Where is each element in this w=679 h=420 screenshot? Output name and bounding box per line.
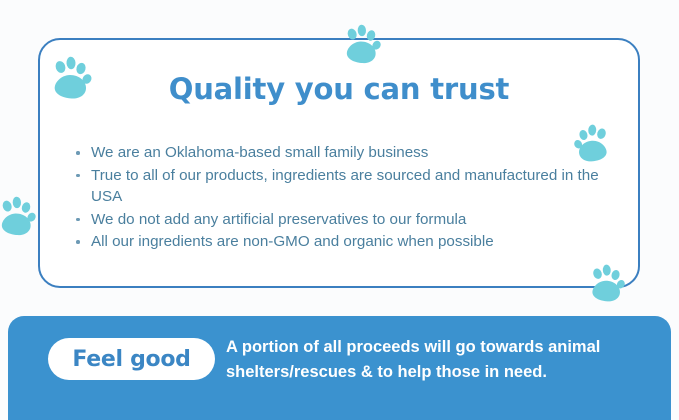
list-item-label: We are an Oklahoma-based small family bu… [91, 144, 428, 161]
banner-message: A portion of all proceeds will go toward… [226, 335, 656, 385]
feel-good-pill: Feel good [48, 338, 215, 380]
page-title: Quality you can trust [40, 72, 638, 106]
bullet-dot-icon [76, 151, 80, 155]
list-item-label: True to all of our products, ingredients… [91, 167, 599, 206]
list-item: We do not add any artificial preservativ… [74, 209, 618, 231]
infographic-canvas: Quality you can trust We are an Oklahoma… [0, 0, 679, 420]
feel-good-pill-label: Feel good [72, 347, 190, 372]
bullet-dot-icon [76, 240, 80, 244]
list-item: All our ingredients are non-GMO and orga… [74, 231, 618, 253]
list-item: True to all of our products, ingredients… [74, 165, 618, 208]
feel-good-banner: Feel good A portion of all proceeds will… [8, 316, 671, 420]
list-item-label: We do not add any artificial preservativ… [91, 211, 466, 228]
quality-trust-card: Quality you can trust We are an Oklahoma… [38, 38, 640, 288]
list-item: We are an Oklahoma-based small family bu… [74, 142, 618, 164]
list-item-label: All our ingredients are non-GMO and orga… [91, 233, 494, 250]
paw-print-left-edge [0, 196, 38, 242]
bullet-dot-icon [76, 218, 80, 222]
bullet-dot-icon [76, 174, 80, 178]
trust-bullet-list: We are an Oklahoma-based small family bu… [74, 142, 618, 254]
